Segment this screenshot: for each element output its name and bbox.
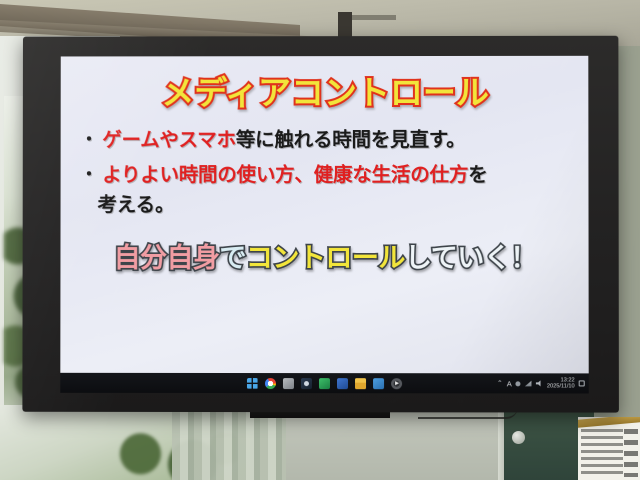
file-explorer-icon[interactable] bbox=[355, 378, 366, 389]
chevron-up-icon[interactable]: ⌃ bbox=[497, 379, 503, 387]
network-icon[interactable] bbox=[525, 380, 532, 386]
bullet-2-continuation: 考える。 bbox=[80, 192, 578, 220]
presentation-slide: メディアコントロール ・ ゲームやスマホ等に触れる時間を見直す。 ・ よりよい時… bbox=[60, 56, 588, 374]
powerpoint-icon[interactable] bbox=[337, 378, 348, 389]
bullet-2-highlight: よりよい時間の使い方、健康な生活の仕方 bbox=[102, 164, 468, 186]
emphasis-segment-1: 自分自身 bbox=[114, 243, 220, 273]
poster-text-rows bbox=[581, 429, 623, 477]
media-player-icon[interactable] bbox=[391, 378, 402, 389]
bullet-2-plain: を bbox=[468, 164, 487, 186]
room-background: メディアコントロール ・ ゲームやスマホ等に触れる時間を見直す。 ・ よりよい時… bbox=[0, 0, 640, 480]
slide-bullet-list: ・ ゲームやスマホ等に触れる時間を見直す。 ・ よりよい時間の使い方、健康な生活… bbox=[72, 127, 578, 220]
bullet-marker: ・ bbox=[81, 127, 98, 152]
notification-center-icon[interactable] bbox=[579, 380, 585, 386]
bullet-marker-2: ・ bbox=[80, 162, 97, 187]
bullet-item-1: ・ ゲームやスマホ等に触れる時間を見直す。 bbox=[81, 127, 579, 155]
wall-mounted-display: メディアコントロール ・ ゲームやスマホ等に触れる時間を見直す。 ・ よりよい時… bbox=[22, 36, 619, 413]
bullet-text-1: ゲームやスマホ等に触れる時間を見直す。 bbox=[102, 127, 578, 155]
bullet-1-highlight: ゲームやスマホ bbox=[102, 129, 236, 151]
poster-vertical-text bbox=[624, 429, 638, 477]
app-grey-icon[interactable] bbox=[282, 378, 293, 389]
store-icon[interactable] bbox=[373, 378, 384, 389]
chalkboard-knob bbox=[512, 431, 525, 444]
start-icon[interactable] bbox=[246, 378, 257, 389]
windows-taskbar: ⌃ A 13:22 2025/11/10 bbox=[60, 373, 588, 394]
camera-icon[interactable] bbox=[300, 378, 311, 389]
clock-date: 2025/11/10 bbox=[547, 383, 575, 389]
monitor-bottom-edge bbox=[250, 412, 390, 418]
poster-header-band bbox=[578, 417, 640, 428]
excel-icon[interactable] bbox=[318, 378, 329, 389]
wall-poster bbox=[578, 417, 640, 480]
slide-title: メディアコントロール bbox=[73, 76, 579, 111]
volume-icon[interactable] bbox=[536, 380, 543, 386]
taskbar-clock[interactable]: 13:22 2025/11/10 bbox=[547, 377, 575, 390]
emphasis-segment-4: していく！ bbox=[405, 243, 537, 273]
bullet-1-plain: 等に触れる時間を見直す。 bbox=[236, 129, 466, 151]
system-tray: ⌃ A 13:22 2025/11/10 bbox=[497, 373, 585, 393]
bullet-text-2: よりよい時間の使い方、健康な生活の仕方を bbox=[102, 162, 578, 190]
bluetooth-icon[interactable] bbox=[516, 381, 521, 386]
display-screen: メディアコントロール ・ ゲームやスマホ等に触れる時間を見直す。 ・ よりよい時… bbox=[60, 56, 588, 394]
emphasis-segment-2: で bbox=[219, 243, 245, 273]
ime-mode-indicator[interactable]: A bbox=[507, 379, 512, 388]
chrome-icon[interactable] bbox=[264, 378, 275, 389]
mount-arm bbox=[350, 15, 396, 20]
emphasis-segment-3: コントロール bbox=[246, 243, 405, 273]
bullet-item-2: ・ よりよい時間の使い方、健康な生活の仕方を bbox=[80, 162, 578, 190]
slide-emphasis-line: 自分自身でコントロールしていく！ bbox=[72, 236, 578, 275]
